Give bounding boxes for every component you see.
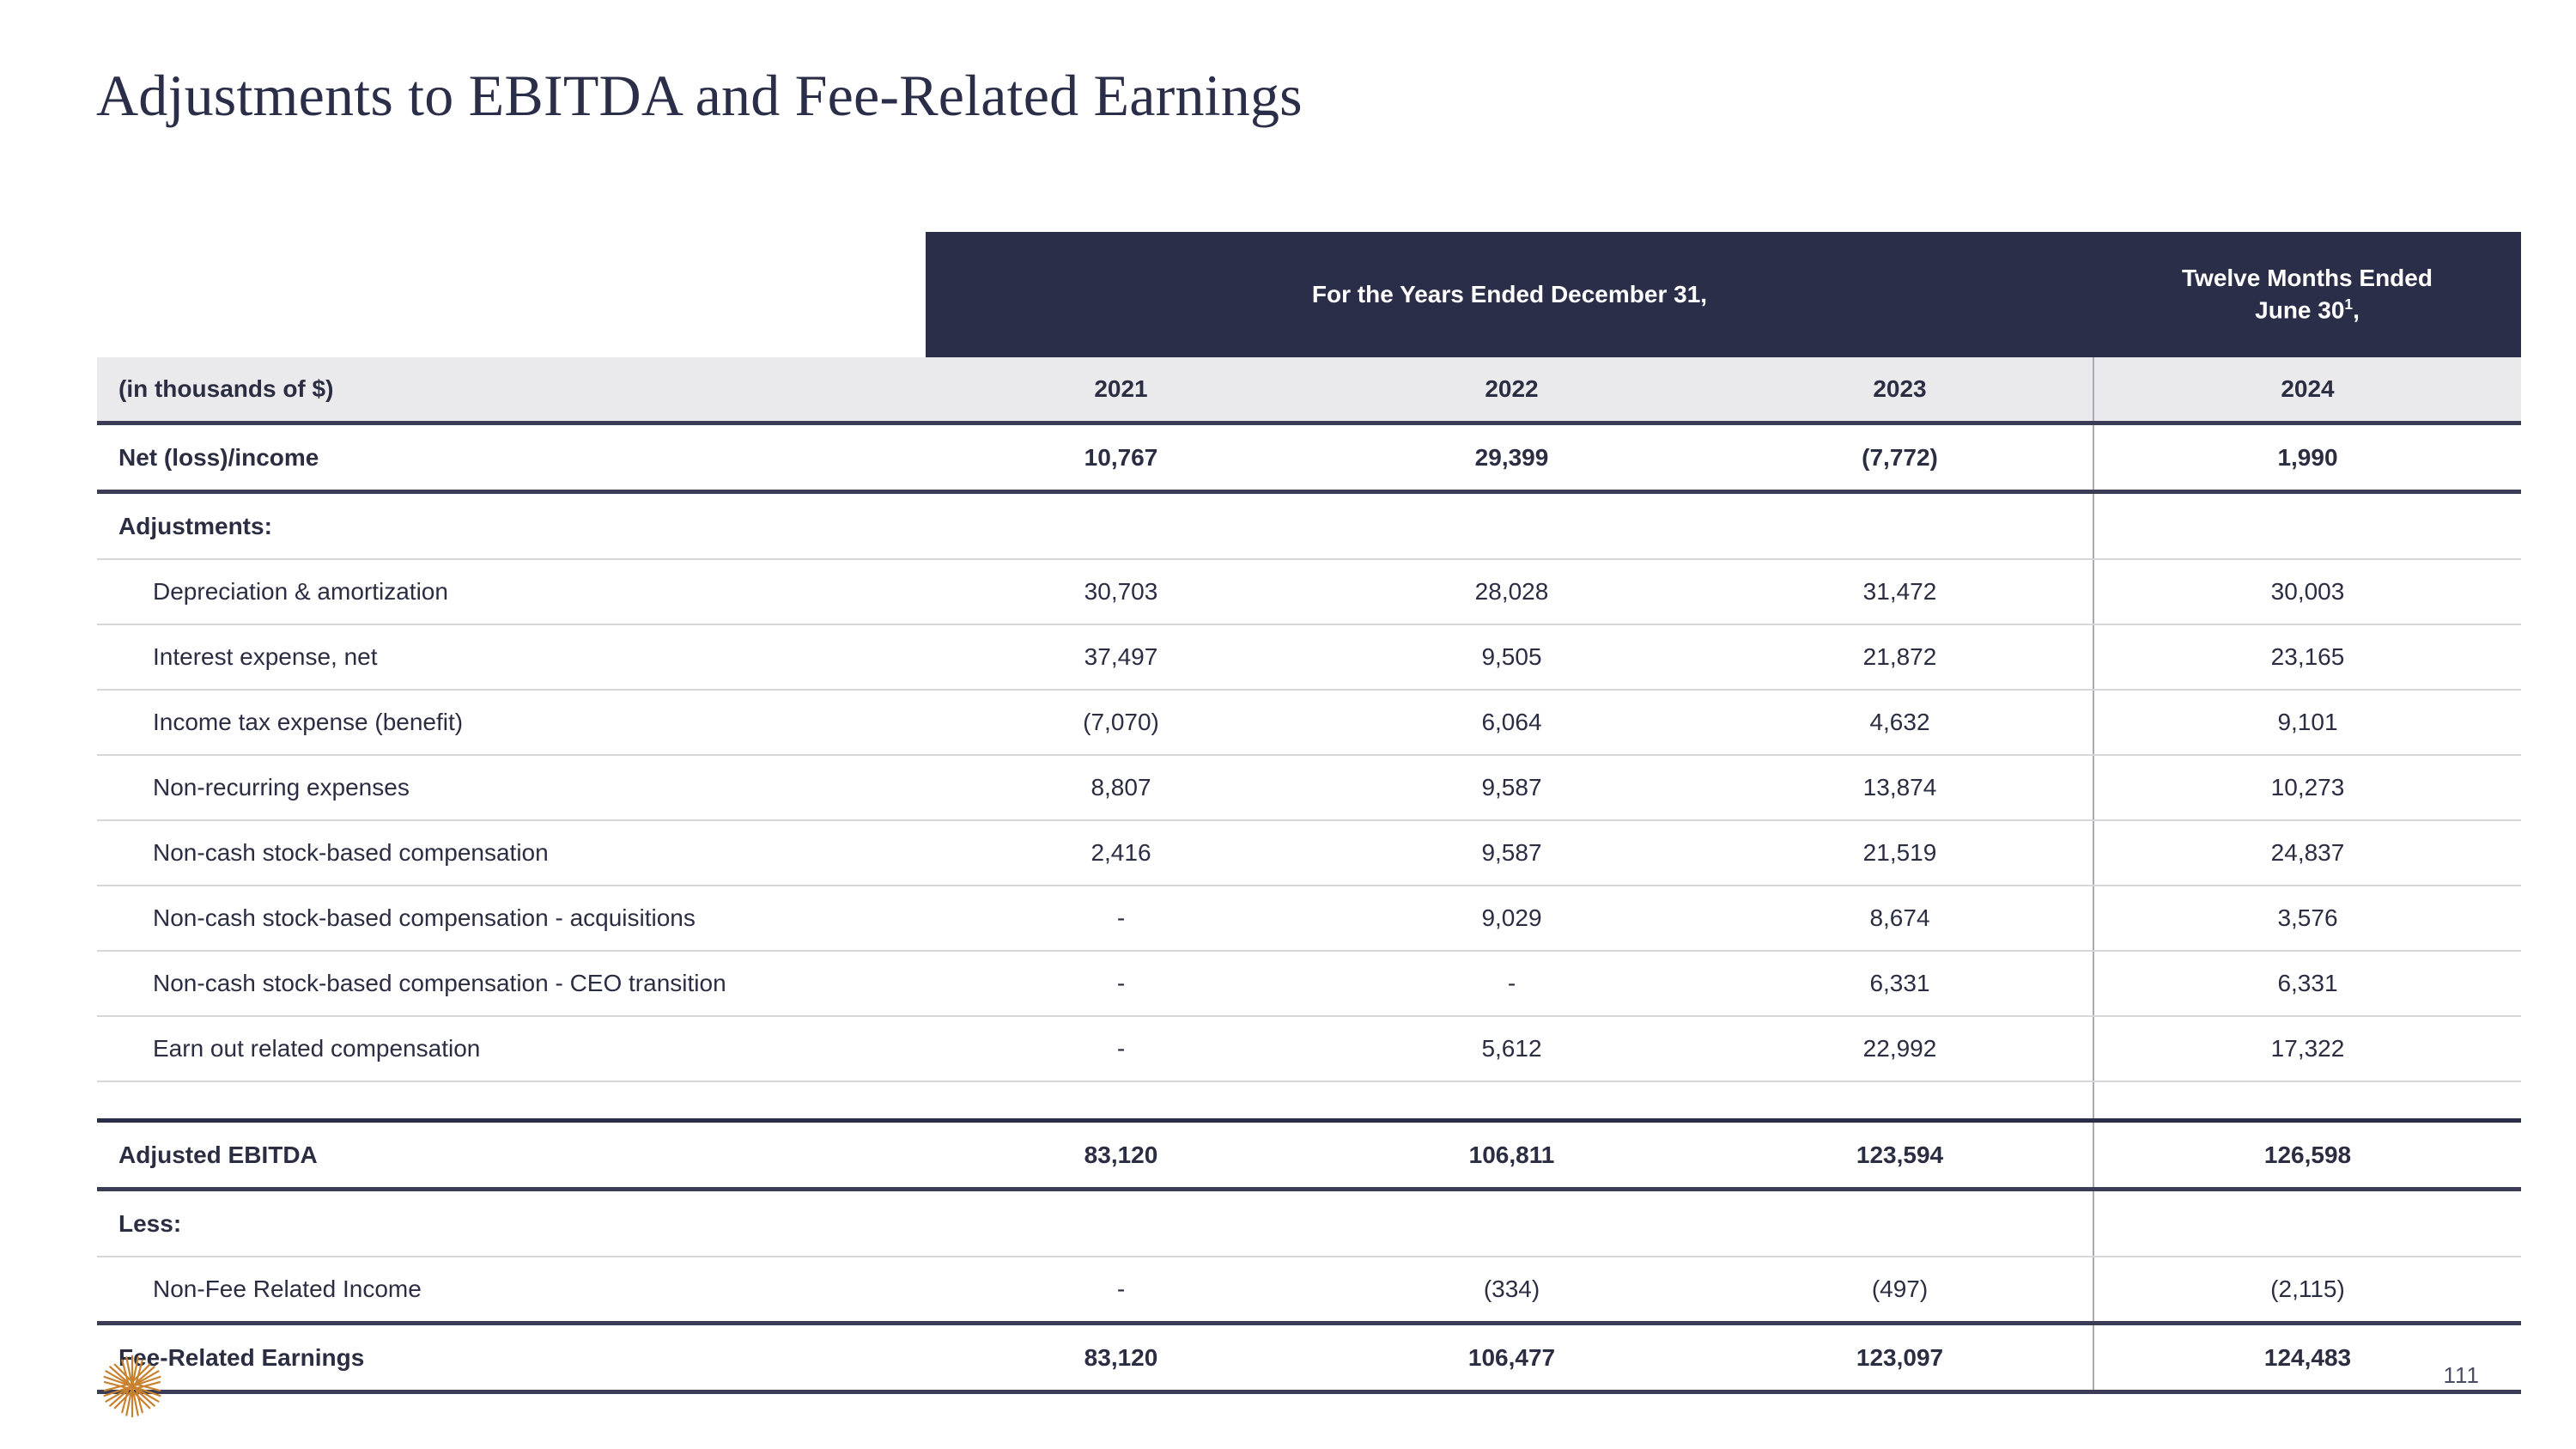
- page-number: 111: [2443, 1362, 2480, 1389]
- ttm-suffix: ,: [2353, 296, 2360, 323]
- row-value-2022: 106,811: [1316, 1121, 1707, 1190]
- row-value-2023: 4,632: [1707, 690, 2093, 755]
- column-header-2021: 2021: [926, 357, 1316, 423]
- table-row: Earn out related compensation-5,61222,99…: [97, 1016, 2521, 1081]
- row-label: Non-recurring expenses: [97, 755, 926, 820]
- row-value-2022: 106,477: [1316, 1324, 1707, 1392]
- row-label: Non-cash stock-based compensation - acqu…: [97, 886, 926, 951]
- row-value-2022: [1316, 1190, 1707, 1257]
- row-value-2024: [2093, 1190, 2521, 1257]
- column-header-2024: 2024: [2093, 357, 2521, 423]
- row-value-2023: 8,674: [1707, 886, 2093, 951]
- row-label: Depreciation & amortization: [97, 559, 926, 624]
- column-header-2022: 2022: [1316, 357, 1707, 423]
- row-value-2024: 126,598: [2093, 1121, 2521, 1190]
- row-value-2023: 6,331: [1707, 951, 2093, 1016]
- row-value-2021: 8,807: [926, 755, 1316, 820]
- row-value-2022: 28,028: [1316, 559, 1707, 624]
- row-value-2023: 123,594: [1707, 1121, 2093, 1190]
- row-value-2021: -: [926, 951, 1316, 1016]
- row-value-2022: 9,505: [1316, 624, 1707, 690]
- row-value-2023: 21,519: [1707, 820, 2093, 886]
- table-row: Income tax expense (benefit)(7,070)6,064…: [97, 690, 2521, 755]
- table-row: Non-recurring expenses8,8079,58713,87410…: [97, 755, 2521, 820]
- row-value-2023: [1707, 492, 2093, 560]
- column-header-row: (in thousands of $) 2021 2022 2023 2024: [97, 357, 2521, 423]
- row-value-2022: 9,587: [1316, 755, 1707, 820]
- ttm-group-header-text: Twelve Months Ended June 301,: [2093, 263, 2521, 326]
- row-label: Adjustments:: [97, 492, 926, 560]
- row-value-2021: 10,767: [926, 423, 1316, 492]
- row-label: Adjusted EBITDA: [97, 1121, 926, 1190]
- row-value-2024: 24,837: [2093, 820, 2521, 886]
- row-value-2022: [1316, 492, 1707, 560]
- table-row: Less:: [97, 1190, 2521, 1257]
- column-header-2023: 2023: [1707, 357, 2093, 423]
- table-row: Non-cash stock-based compensation - CEO …: [97, 951, 2521, 1016]
- row-value-2024: 10,273: [2093, 755, 2521, 820]
- row-label: Income tax expense (benefit): [97, 690, 926, 755]
- row-value-2021: 37,497: [926, 624, 1316, 690]
- row-value-2021: [926, 492, 1316, 560]
- row-value-2021: 2,416: [926, 820, 1316, 886]
- row-value-2021: [926, 1190, 1316, 1257]
- pinwheel-logo: [96, 1350, 168, 1422]
- row-value-2021: -: [926, 1257, 1316, 1324]
- table-row: Non-cash stock-based compensation - acqu…: [97, 886, 2521, 951]
- table-row: Interest expense, net37,4979,50521,87223…: [97, 624, 2521, 690]
- page-title: Adjustments to EBITDA and Fee-Related Ea…: [96, 62, 1303, 130]
- row-value-2021: 83,120: [926, 1324, 1316, 1392]
- row-value-2024: 1,990: [2093, 423, 2521, 492]
- row-value-2024: (2,115): [2093, 1257, 2521, 1324]
- row-label: Non-Fee Related Income: [97, 1257, 926, 1324]
- row-label: Non-cash stock-based compensation: [97, 820, 926, 886]
- row-value-2022: -: [1316, 951, 1707, 1016]
- row-value-2023: 31,472: [1707, 559, 2093, 624]
- banner-spacer-cell: [97, 232, 926, 357]
- row-label: Net (loss)/income: [97, 423, 926, 492]
- table-row: Depreciation & amortization30,70328,0283…: [97, 559, 2521, 624]
- ttm-group-header: Twelve Months Ended June 301,: [2093, 232, 2521, 357]
- row-label: Less:: [97, 1190, 926, 1257]
- row-value-2023: 21,872: [1707, 624, 2093, 690]
- row-value-2022: 29,399: [1316, 423, 1707, 492]
- row-value-2023: 13,874: [1707, 755, 2093, 820]
- row-value-2024: 23,165: [2093, 624, 2521, 690]
- row-value-2021: (7,070): [926, 690, 1316, 755]
- table-row: Fee-Related Earnings83,120106,477123,097…: [97, 1324, 2521, 1392]
- column-group-header-row: For the Years Ended December 31, Twelve …: [97, 232, 2521, 357]
- row-value-2023: 22,992: [1707, 1016, 2093, 1081]
- row-value-2023: [1707, 1190, 2093, 1257]
- table-body: Net (loss)/income10,76729,399(7,772)1,99…: [97, 423, 2521, 1392]
- row-value-2024: 17,322: [2093, 1016, 2521, 1081]
- row-value-2022: 5,612: [1316, 1016, 1707, 1081]
- row-value-2023: [1707, 1081, 2093, 1121]
- table-head: For the Years Ended December 31, Twelve …: [97, 232, 2521, 423]
- row-value-2022: 6,064: [1316, 690, 1707, 755]
- footnote-marker: 1: [2344, 295, 2353, 313]
- years-group-header: For the Years Ended December 31,: [926, 232, 2093, 357]
- financial-table-container: For the Years Ended December 31, Twelve …: [97, 232, 2521, 1394]
- adjustments-table: For the Years Ended December 31, Twelve …: [97, 232, 2521, 1394]
- row-label: Non-cash stock-based compensation - CEO …: [97, 951, 926, 1016]
- row-value-2021: -: [926, 1016, 1316, 1081]
- table-row: Adjustments:: [97, 492, 2521, 560]
- ttm-line-1: Twelve Months Ended: [2182, 265, 2433, 291]
- table-row: Non-Fee Related Income-(334)(497)(2,115): [97, 1257, 2521, 1324]
- table-spacer-row: [97, 1081, 2521, 1121]
- row-value-2022: (334): [1316, 1257, 1707, 1324]
- row-label: [97, 1081, 926, 1121]
- row-value-2021: 83,120: [926, 1121, 1316, 1190]
- row-value-2024: 3,576: [2093, 886, 2521, 951]
- row-value-2024: [2093, 1081, 2521, 1121]
- ttm-line-2: June 30: [2255, 296, 2344, 323]
- row-value-2023: 123,097: [1707, 1324, 2093, 1392]
- table-row: Non-cash stock-based compensation2,4169,…: [97, 820, 2521, 886]
- table-row: Net (loss)/income10,76729,399(7,772)1,99…: [97, 423, 2521, 492]
- row-value-2022: 9,587: [1316, 820, 1707, 886]
- row-label: Fee-Related Earnings: [97, 1324, 926, 1392]
- row-value-2024: 6,331: [2093, 951, 2521, 1016]
- row-label: Earn out related compensation: [97, 1016, 926, 1081]
- row-value-2021: -: [926, 886, 1316, 951]
- row-value-2024: [2093, 492, 2521, 560]
- row-value-2021: 30,703: [926, 559, 1316, 624]
- row-value-2022: 9,029: [1316, 886, 1707, 951]
- row-value-2022: [1316, 1081, 1707, 1121]
- table-row: Adjusted EBITDA83,120106,811123,594126,5…: [97, 1121, 2521, 1190]
- row-value-2024: 30,003: [2093, 559, 2521, 624]
- row-value-2023: (497): [1707, 1257, 2093, 1324]
- row-value-2021: [926, 1081, 1316, 1121]
- row-value-2023: (7,772): [1707, 423, 2093, 492]
- row-value-2024: 9,101: [2093, 690, 2521, 755]
- row-label: Interest expense, net: [97, 624, 926, 690]
- units-label: (in thousands of $): [97, 357, 926, 423]
